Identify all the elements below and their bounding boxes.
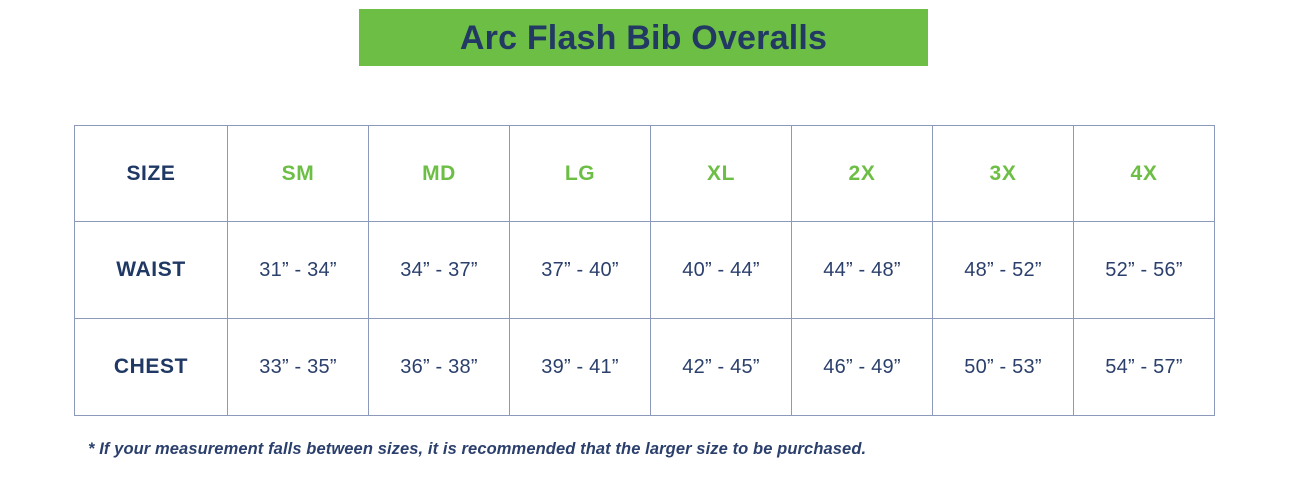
header-cell-sm: SM [228, 126, 369, 222]
chest-sm: 33” - 35” [228, 319, 369, 416]
header-cell-4x: 4X [1074, 126, 1215, 222]
table-row-waist: WAIST 31” - 34” 34” - 37” 37” - 40” 40” … [75, 222, 1215, 319]
size-chart-table: SIZE SM MD LG XL 2X 3X 4X WAIST 31” - 34… [74, 125, 1215, 416]
waist-xl: 40” - 44” [651, 222, 792, 319]
waist-md: 34” - 37” [369, 222, 510, 319]
title-banner: Arc Flash Bib Overalls [359, 9, 928, 66]
chest-4x: 54” - 57” [1074, 319, 1215, 416]
page-title: Arc Flash Bib Overalls [460, 21, 827, 55]
header-cell-2x: 2X [792, 126, 933, 222]
row-label-waist: WAIST [75, 222, 228, 319]
footnote-text: * If your measurement falls between size… [88, 440, 866, 459]
chest-xl: 42” - 45” [651, 319, 792, 416]
table-header-row: SIZE SM MD LG XL 2X 3X 4X [75, 126, 1215, 222]
header-cell-xl: XL [651, 126, 792, 222]
header-cell-lg: LG [510, 126, 651, 222]
header-cell-size: SIZE [75, 126, 228, 222]
size-chart-table-container: SIZE SM MD LG XL 2X 3X 4X WAIST 31” - 34… [74, 125, 1215, 413]
chest-md: 36” - 38” [369, 319, 510, 416]
waist-3x: 48” - 52” [933, 222, 1074, 319]
table-row-chest: CHEST 33” - 35” 36” - 38” 39” - 41” 42” … [75, 319, 1215, 416]
chest-2x: 46” - 49” [792, 319, 933, 416]
header-cell-md: MD [369, 126, 510, 222]
waist-lg: 37” - 40” [510, 222, 651, 319]
header-cell-3x: 3X [933, 126, 1074, 222]
waist-4x: 52” - 56” [1074, 222, 1215, 319]
chest-3x: 50” - 53” [933, 319, 1074, 416]
waist-sm: 31” - 34” [228, 222, 369, 319]
row-label-chest: CHEST [75, 319, 228, 416]
chest-lg: 39” - 41” [510, 319, 651, 416]
waist-2x: 44” - 48” [792, 222, 933, 319]
